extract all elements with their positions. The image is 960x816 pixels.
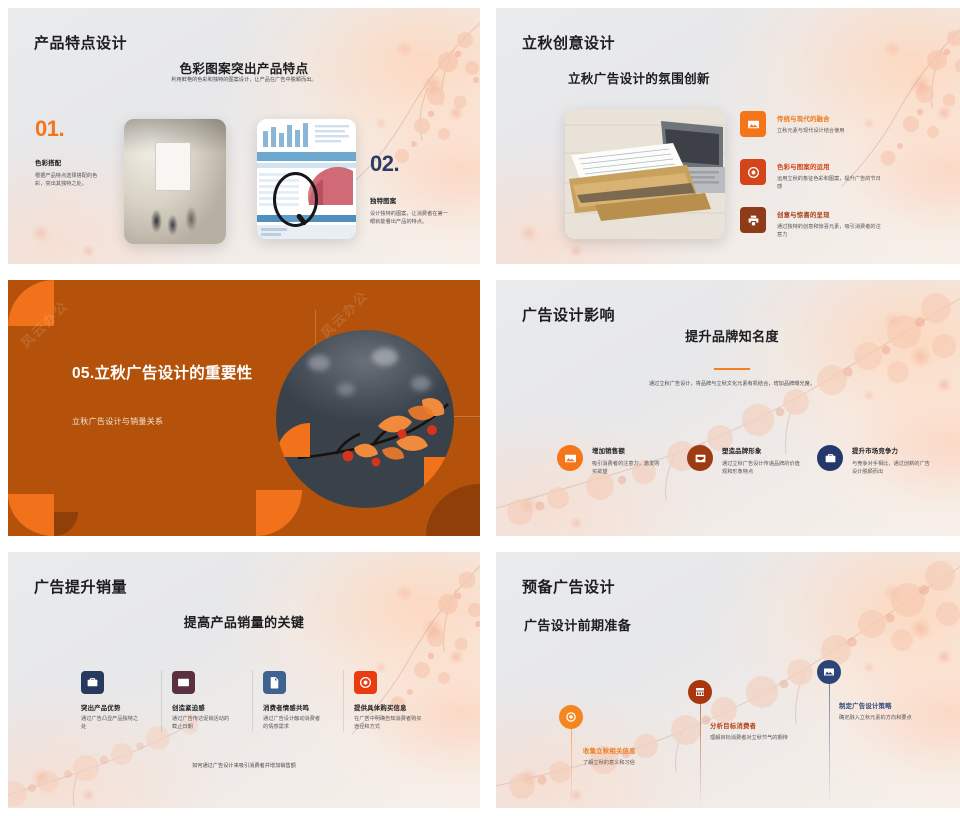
image-icon — [564, 452, 577, 465]
key-icon-4[interactable] — [354, 671, 377, 694]
slide-product-feature-design[interactable]: 产品特点设计 色彩图案突出产品特点 利用鲜艳的色彩和独特的图案设计，让产品在广告… — [8, 8, 480, 264]
section-subtitle: 立秋广告设计的氛围创新 — [568, 68, 710, 87]
feature-body-3: 通过独特的创意和惊喜元素，吸引消费者的注意力 — [777, 223, 885, 240]
feature-icon-tile-2[interactable] — [740, 159, 766, 185]
chart-magnifier-photo[interactable] — [257, 119, 356, 239]
server-icon — [694, 686, 706, 698]
item-number-01: 01. — [35, 118, 64, 140]
key-body-1: 通过广告凸显产品独特之处 — [81, 715, 143, 732]
impact-heading-1: 增加销售额 — [592, 446, 625, 455]
briefcase-icon — [824, 452, 837, 465]
blossom-branch-circle-photo[interactable] — [276, 330, 454, 508]
timeline-stem-3 — [829, 672, 830, 808]
cover-title: 05.立秋广告设计的重要性 — [72, 364, 262, 384]
section-lead: 利用鲜艳的色彩和独特的图案设计，让产品在广告中脱颖而出。 — [8, 76, 480, 85]
notebooks-laptop-photo[interactable] — [565, 109, 725, 239]
section-lead: 通过立秋广告设计，将品牌与立秋文化元素有机结合，增加品牌曝光度。 — [496, 380, 960, 389]
page-title: 广告提升销量 — [34, 576, 127, 597]
item-body-01: 根据产品特点选择搭配的色彩，突出其独特之处。 — [35, 172, 107, 189]
feature-icon-tile-1[interactable] — [740, 111, 766, 137]
timeline-body-1: 了解立秋的意义和习俗 — [583, 759, 675, 767]
impact-icon-2[interactable] — [687, 445, 713, 471]
image-icon — [823, 666, 835, 678]
key-heading-2: 创造紧迫感 — [172, 703, 205, 712]
impact-body-1: 吸引消费者的注意力，激发购买欲望 — [592, 460, 664, 477]
timeline-body-3: 确定融入立秋元素的方向和要点 — [839, 714, 927, 722]
key-heading-1: 突出产品优势 — [81, 703, 121, 712]
impact-heading-3: 提升市场竞争力 — [852, 446, 898, 455]
key-icon-3[interactable] — [263, 671, 286, 694]
slide-liqiu-creative-design[interactable]: 立秋创意设计 立秋广告设计的氛围创新 — [496, 8, 960, 264]
slide-footer-note: 如何通过广告设计来吸引消费者并增加销售额 — [8, 762, 480, 771]
cover-subtitle: 立秋广告设计与销量关系 — [72, 416, 163, 427]
magnifier-icon — [273, 172, 319, 227]
item-number-02: 02. — [370, 153, 399, 175]
key-body-2: 通过广告传达促销活动的截止日期 — [172, 715, 234, 732]
column-separator-3 — [343, 670, 344, 732]
timeline-body-2: 理解目标消费者对立秋节气的期待 — [710, 734, 798, 742]
slide-deck: 产品特点设计 色彩图案突出产品特点 利用鲜艳的色彩和独特的图案设计，让产品在广告… — [0, 0, 960, 816]
slide-liqiu-ad-importance-cover[interactable]: 风云办公 风云办公 — [8, 280, 480, 536]
timeline-pin-1[interactable] — [559, 705, 583, 729]
page-title: 立秋创意设计 — [522, 32, 615, 53]
feature-body-1: 立秋元素与现代设计结合使用 — [777, 127, 887, 135]
key-heading-3: 消费者情感共鸣 — [263, 703, 309, 712]
corner-shape-bottom-left — [8, 494, 54, 536]
target-icon — [359, 676, 372, 689]
item-heading-02: 独特图案 — [370, 196, 396, 205]
timeline-heading-3: 制定广告设计策略 — [839, 701, 892, 710]
key-heading-4: 提供具体购买信息 — [354, 703, 407, 712]
slide-prepare-ad-design[interactable]: 预备广告设计 广告设计前期准备 收集立秋相关信息 了解立秋的意义和习俗 分析目标… — [496, 552, 960, 808]
key-icon-2[interactable] — [172, 671, 195, 694]
slide-ad-design-impact[interactable]: 广告设计影响 提升品牌知名度 通过立秋广告设计，将品牌与立秋文化元素有机结合，增… — [496, 280, 960, 536]
feature-icon-tile-3[interactable] — [740, 207, 766, 233]
feature-heading-3: 创意与惊喜的呈现 — [777, 210, 830, 219]
impact-icon-3[interactable] — [817, 445, 843, 471]
key-body-4: 在广告中明确告知消费者购买途径和方式 — [354, 715, 422, 732]
feature-heading-2: 色彩与图案的运用 — [777, 162, 830, 171]
feature-body-2: 运用立秋的象征色彩和图案，提升广告的节日感 — [777, 175, 885, 192]
timeline-stem-2 — [700, 692, 701, 808]
timeline-pin-3[interactable] — [817, 660, 841, 684]
briefcase-icon — [86, 676, 99, 689]
feature-heading-1: 传统与现代的融合 — [777, 114, 830, 123]
accent-divider — [714, 368, 750, 370]
section-subtitle: 提高产品销量的关键 — [8, 612, 480, 631]
page-title: 产品特点设计 — [34, 32, 127, 53]
inbox-icon — [694, 452, 707, 465]
timeline-stem-1 — [571, 717, 572, 808]
corner-shape-bottom-left-dark — [54, 512, 78, 536]
timeline-pin-2[interactable] — [688, 680, 712, 704]
card-icon — [177, 676, 190, 689]
target-icon — [565, 711, 577, 723]
image-icon — [747, 118, 760, 131]
printer-icon — [747, 214, 760, 227]
timeline-heading-2: 分析目标消费者 — [710, 721, 756, 730]
document-icon — [268, 676, 281, 689]
impact-body-3: 与竞争对手相比，通过创新的广告设计脱颖而出 — [852, 460, 930, 477]
section-subtitle: 提升品牌知名度 — [496, 326, 960, 345]
key-body-3: 通过广告设计触动消费者的情感需求 — [263, 715, 325, 732]
timeline-heading-1: 收集立秋相关信息 — [583, 746, 636, 755]
slide-ads-boost-sales[interactable]: 广告提升销量 提高产品销量的关键 突出产品优势 通过广告凸显产品独特之处 创造紧… — [8, 552, 480, 808]
section-subtitle: 广告设计前期准备 — [524, 615, 631, 634]
key-icon-1[interactable] — [81, 671, 104, 694]
column-separator-2 — [252, 670, 253, 732]
impact-icon-1[interactable] — [557, 445, 583, 471]
office-presentation-photo[interactable] — [124, 119, 226, 244]
section-subtitle: 色彩图案突出产品特点 — [8, 58, 480, 77]
page-title: 广告设计影响 — [522, 304, 615, 325]
item-body-02: 设计独特的图案，让消费者在第一眼就能看出产品的特点。 — [370, 210, 452, 227]
column-separator-1 — [161, 670, 162, 732]
impact-body-2: 通过立秋广告设计传递品牌的价值观和形象特点 — [722, 460, 800, 477]
target-icon — [747, 166, 760, 179]
page-title: 预备广告设计 — [522, 576, 615, 597]
item-heading-01: 色彩搭配 — [35, 158, 61, 167]
impact-heading-2: 塑造品牌形象 — [722, 446, 762, 455]
